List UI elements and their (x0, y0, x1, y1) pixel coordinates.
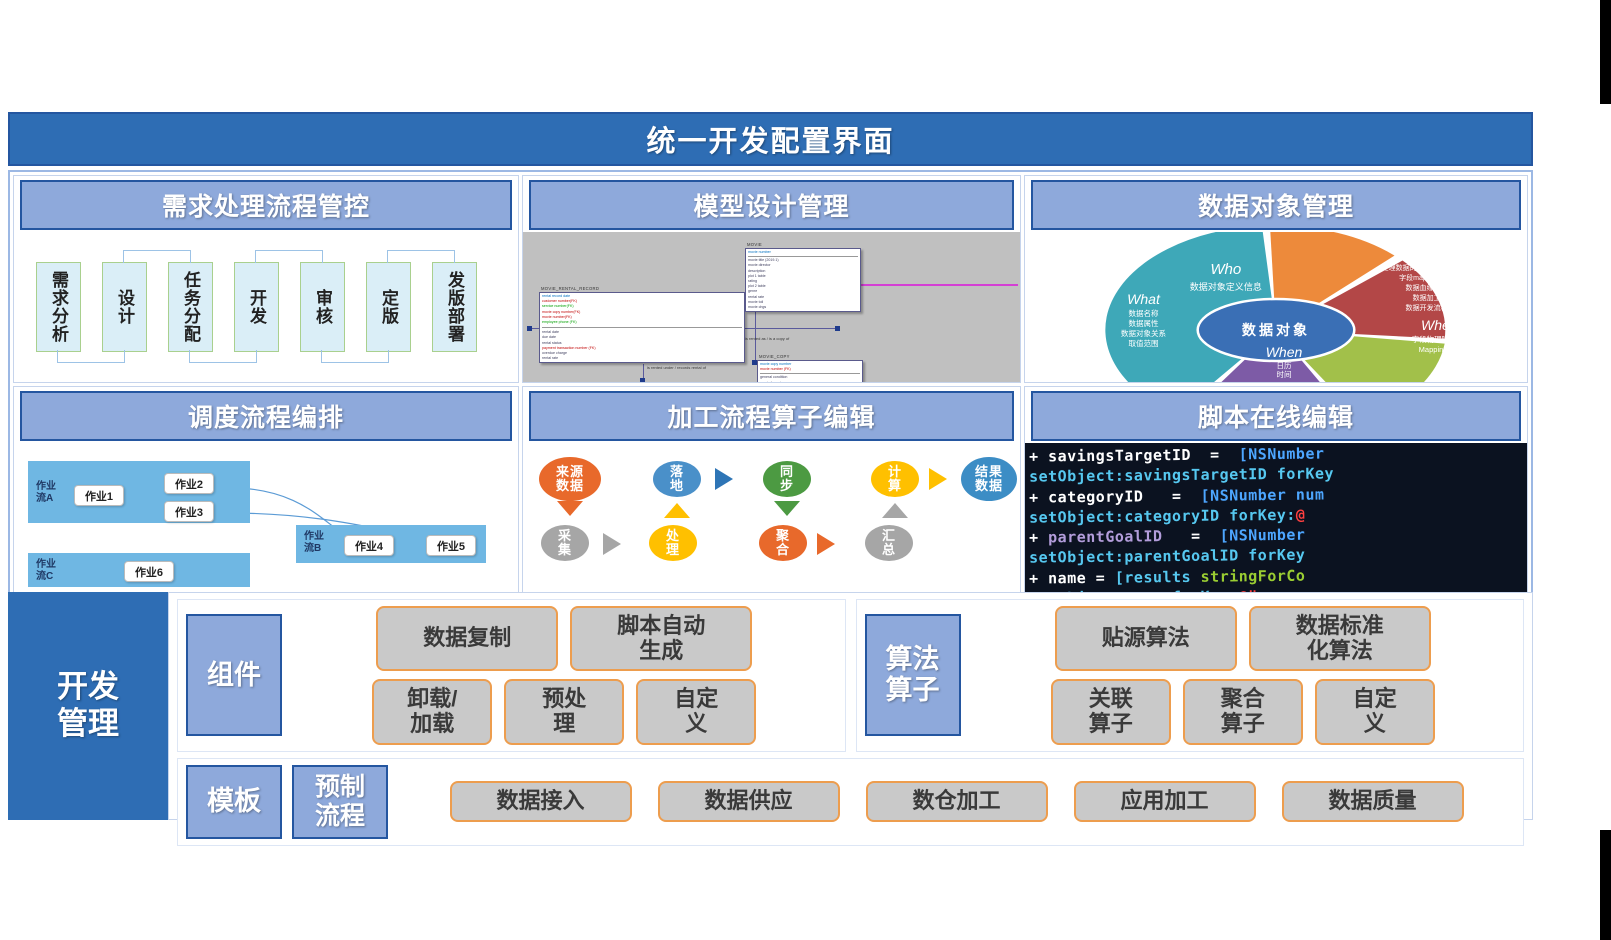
panel-body-operator: 来源 数据 落 地 同 步 计 算 结果 数据 采 集 (523, 443, 1020, 593)
panel-body-script: + savingsTargetID = [NSNumber setObject:… (1025, 443, 1527, 593)
er-endpoint (527, 326, 532, 331)
pie-label-where-title: Where (1421, 317, 1463, 333)
chip-custom-component[interactable]: 自定 义 (636, 679, 756, 744)
connector-2-3 (123, 250, 191, 263)
chip-source-algorithm[interactable]: 贴源算法 (1055, 606, 1237, 671)
chip-preprocess[interactable]: 预处 理 (504, 679, 624, 744)
pie-label-who-line1: 数据对象定义信息 (1190, 281, 1262, 292)
schedule-flow-diagram: 作业 流A 作业1 作业2 作业3 作业 流B 作业4 作业5 作业 流C 作业… (14, 443, 518, 593)
operator-node-aggregate[interactable]: 聚 合 (759, 525, 807, 561)
panel-model-design[interactable]: 模型设计管理 (522, 175, 1021, 383)
panel-header-operator: 加工流程算子编辑 (529, 391, 1014, 441)
arrow-right-3 (603, 533, 621, 555)
chip-data-quality[interactable]: 数据质量 (1282, 781, 1464, 822)
arrow-right-4 (817, 533, 835, 555)
job-2[interactable]: 作业2 (164, 473, 214, 494)
template-chip-row: 数据接入 数据供应 数仓加工 应用加工 数据质量 (398, 781, 1515, 822)
flow-step-3[interactable]: 任务分配 (168, 262, 213, 352)
pie-label-what-line4: 取值范围 (1128, 338, 1158, 348)
pie-label-how-line3: 数据血缘关系 (1406, 283, 1448, 292)
panel-requirement-process[interactable]: 需求处理流程管控 需求分析 设计 任务分配 开发 审核 定版 发版部署 (13, 175, 519, 383)
lane-a-label: 作业 流A (36, 481, 56, 504)
panel-data-object[interactable]: 数据对象管理 (1024, 175, 1528, 383)
panel-grid: 需求处理流程管控 需求分析 设计 任务分配 开发 审核 定版 发版部署 (8, 170, 1533, 599)
panel-body-requirement-process: 需求分析 设计 任务分配 开发 审核 定版 发版部署 (14, 232, 518, 382)
chip-script-auto-generate[interactable]: 脚本自动 生成 (570, 606, 752, 671)
pie-label-how-line5: 数据开发流程 (1406, 303, 1448, 312)
panel-title: 数据对象管理 (1198, 187, 1354, 223)
arrow-down-2 (774, 501, 800, 516)
er-entity-title-copy: MOVIE_COPY (759, 354, 790, 359)
pie-label-where-line2: Mapping 信息 (1419, 344, 1465, 354)
flow-step-5[interactable]: 审核 (300, 262, 345, 352)
chip-data-ingestion[interactable]: 数据接入 (450, 781, 632, 822)
arrow-up-2 (882, 503, 908, 518)
chip-data-replication[interactable]: 数据复制 (376, 606, 558, 671)
pie-label-what-line2: 数据属性 (1128, 318, 1159, 328)
er-entity-title-movie: MOVIE (747, 242, 762, 247)
job-1[interactable]: 作业1 (74, 485, 124, 506)
arrow-right-1 (715, 468, 733, 490)
operator-node-process[interactable]: 处 理 (649, 525, 697, 561)
er-link-pink (853, 284, 1018, 286)
flow-step-2[interactable]: 设计 (102, 262, 147, 352)
operator-node-land[interactable]: 落 地 (653, 461, 701, 497)
panel-title: 加工流程算子编辑 (667, 398, 875, 434)
chip-unload-load[interactable]: 卸载/ 加载 (372, 679, 492, 744)
dm-row-1: 组件 数据复制 脚本自动 生成 卸载/ 加载 预处 理 自定 义 算法 算子 (177, 599, 1524, 752)
template-group-label[interactable]: 模板 (186, 765, 282, 839)
er-link-3 (733, 328, 838, 329)
arrow-down-1 (557, 501, 583, 516)
algorithm-operator-group: 算法 算子 贴源算法 数据标准 化算法 关联 算子 聚合 算子 自定 义 (856, 599, 1525, 752)
top-right-black-bar (1600, 0, 1611, 104)
pie-label-how-line2: 字段mapping信息 (1399, 273, 1454, 282)
pie-center-label: 数据对象 (1242, 322, 1310, 338)
flow-step-6[interactable]: 定版 (366, 262, 411, 352)
preset-flow-label[interactable]: 预制 流程 (292, 765, 388, 839)
pie-label-who-title: Who (1210, 261, 1241, 278)
connector-1-2 (57, 350, 125, 363)
panel-operator-editing[interactable]: 加工流程算子编辑 来源 数据 落 地 同 步 计 算 结果 数据 (522, 386, 1021, 594)
er-diagram: MOVIE_RENTAL_RECORD rental record date c… (523, 232, 1020, 382)
panel-row-2: 调度流程编排 作业 流A 作业1 作业2 (13, 386, 1528, 594)
panel-header-requirement-process: 需求处理流程管控 (20, 180, 512, 230)
code-editor-surface[interactable]: + savingsTargetID = [NSNumber setObject:… (1025, 443, 1527, 593)
er-entity-movie[interactable]: movie number movie title (2019.1) movie … (745, 248, 861, 312)
chip-standardization-algorithm[interactable]: 数据标准 化算法 (1249, 606, 1431, 671)
lane-c-label: 作业 流C (36, 559, 56, 582)
flow-step-1[interactable]: 需求分析 (36, 262, 81, 352)
er-entity-title-rental: MOVIE_RENTAL_RECORD (541, 286, 599, 291)
dm-row-2: 模板 预制 流程 数据接入 数据供应 数仓加工 应用加工 数据质量 (177, 758, 1524, 846)
panel-title: 脚本在线编辑 (1198, 398, 1354, 434)
pie-label-what-title: What (1127, 291, 1161, 307)
data-object-pie-chart: 数据对象 Who 数据对象定义信息 How 处理数据的规则及算法 / 加工 字段… (1025, 232, 1527, 382)
operator-flow-diagram: 来源 数据 落 地 同 步 计 算 结果 数据 采 集 (523, 443, 1020, 593)
requirement-flow-diagram: 需求分析 设计 任务分配 开发 审核 定版 发版部署 (14, 232, 518, 382)
pie-svg: 数据对象 Who 数据对象定义信息 How 处理数据的规则及算法 / 加工 字段… (1025, 232, 1527, 382)
pie-label-how-line4: 数据加工 (1413, 293, 1441, 302)
operator-node-collect[interactable]: 采 集 (541, 525, 589, 561)
component-chip-row-2: 卸载/ 加载 预处 理 自定 义 (292, 679, 837, 744)
component-group-label[interactable]: 组件 (186, 614, 282, 736)
algorithm-chip-grid: 贴源算法 数据标准 化算法 关联 算子 聚合 算子 自定 义 (971, 606, 1516, 745)
operator-node-source[interactable]: 来源 数据 (539, 457, 601, 501)
dev-management-label: 开发 管理 (57, 669, 119, 742)
dev-management-content: 组件 数据复制 脚本自动 生成 卸载/ 加载 预处 理 自定 义 算法 算子 (168, 592, 1533, 820)
algorithm-group-label[interactable]: 算法 算子 (865, 614, 961, 736)
operator-node-summary[interactable]: 汇 总 (865, 525, 913, 561)
component-group: 组件 数据复制 脚本自动 生成 卸载/ 加载 预处 理 自定 义 (177, 599, 846, 752)
panel-header-schedule: 调度流程编排 (20, 391, 512, 441)
pie-label-what-line1: 数据名称 (1128, 308, 1159, 318)
pie-label-where-line1: 字段物理映射信息 (1412, 334, 1473, 344)
er-note-2: is rented under / records rental of (647, 365, 737, 370)
page-title-bar: 统一开发配置界面 (8, 112, 1533, 166)
operator-node-sync[interactable]: 同 步 (763, 461, 811, 497)
panel-body-data-object: 数据对象 Who 数据对象定义信息 How 处理数据的规则及算法 / 加工 字段… (1025, 232, 1527, 382)
chip-custom-operator[interactable]: 自定 义 (1315, 679, 1435, 744)
template-group: 模板 预制 流程 数据接入 数据供应 数仓加工 应用加工 数据质量 (177, 758, 1524, 846)
chip-warehouse-processing[interactable]: 数仓加工 (866, 781, 1048, 822)
flow-step-4[interactable]: 开发 (234, 262, 279, 352)
dev-management-sidebar[interactable]: 开发 管理 (8, 592, 168, 820)
panel-body-model-design: MOVIE_RENTAL_RECORD rental record date c… (523, 232, 1020, 382)
chip-join-operator[interactable]: 关联 算子 (1051, 679, 1171, 744)
pie-label-how-title: How (1413, 245, 1442, 261)
connector-4-5 (255, 250, 323, 263)
job-5[interactable]: 作业5 (426, 535, 476, 556)
component-chip-row-1: 数据复制 脚本自动 生成 (292, 606, 837, 671)
er-endpoint (835, 326, 840, 331)
job-6[interactable]: 作业6 (124, 561, 174, 582)
pie-label-what-line3: 数据对象关系 (1121, 328, 1167, 338)
chip-data-supply[interactable]: 数据供应 (658, 781, 840, 822)
lane-b-label: 作业 流B (304, 531, 324, 554)
job-4[interactable]: 作业4 (344, 535, 394, 556)
job-3[interactable]: 作业3 (164, 501, 214, 522)
connector-5-6 (321, 350, 389, 363)
chip-application-processing[interactable]: 应用加工 (1074, 781, 1256, 822)
panel-script-editor[interactable]: 脚本在线编辑 + savingsTargetID = [NSNumber set… (1024, 386, 1528, 594)
lane-a[interactable] (28, 461, 250, 523)
connector-6-7 (387, 250, 455, 263)
operator-node-compute[interactable]: 计 算 (871, 461, 919, 497)
pie-label-when-line1: 日历 (1277, 361, 1293, 370)
arrow-right-2 (929, 468, 947, 490)
panel-title: 模型设计管理 (693, 187, 849, 223)
arrow-up-1 (664, 503, 690, 518)
algorithm-chip-row-2: 关联 算子 聚合 算子 自定 义 (971, 679, 1516, 744)
operator-node-result[interactable]: 结果 数据 (961, 457, 1017, 501)
connector-3-4 (189, 350, 257, 363)
algorithm-chip-row-1: 贴源算法 数据标准 化算法 (971, 606, 1516, 671)
bottom-right-black-bar (1600, 830, 1611, 940)
flow-step-7[interactable]: 发版部署 (432, 262, 477, 352)
dev-management-section: 开发 管理 组件 数据复制 脚本自动 生成 卸载/ 加载 预处 理 自定 义 (8, 592, 1533, 820)
er-note-1: is rented as / is a copy of (745, 336, 809, 341)
panel-title: 需求处理流程管控 (162, 187, 370, 223)
page-title: 统一开发配置界面 (646, 118, 894, 160)
component-chip-grid: 数据复制 脚本自动 生成 卸载/ 加载 预处 理 自定 义 (292, 606, 837, 745)
er-entity-rental-record[interactable]: rental record date customer number(FK) s… (539, 292, 745, 363)
panel-schedule-orchestration[interactable]: 调度流程编排 作业 流A 作业1 作业2 (13, 386, 519, 594)
er-entity-movie-copy[interactable]: movie copy number movie number (FK) gene… (757, 360, 863, 382)
pie-label-when-line2: 时间 (1277, 369, 1292, 379)
panel-body-schedule: 作业 流A 作业1 作业2 作业3 作业 流B 作业4 作业5 作业 流C 作业… (14, 443, 518, 593)
pie-label-when-title: When (1266, 344, 1303, 360)
panel-header-script: 脚本在线编辑 (1031, 391, 1521, 441)
panel-row-1: 需求处理流程管控 需求分析 设计 任务分配 开发 审核 定版 发版部署 (13, 175, 1528, 383)
panel-header-model-design: 模型设计管理 (529, 180, 1014, 230)
panel-header-data-object: 数据对象管理 (1031, 180, 1521, 230)
er-endpoint (640, 378, 645, 382)
chip-aggregate-operator[interactable]: 聚合 算子 (1183, 679, 1303, 744)
panel-title: 调度流程编排 (188, 398, 344, 434)
pie-label-how-line1: 处理数据的规则及算法 / 加工 (1382, 263, 1472, 272)
